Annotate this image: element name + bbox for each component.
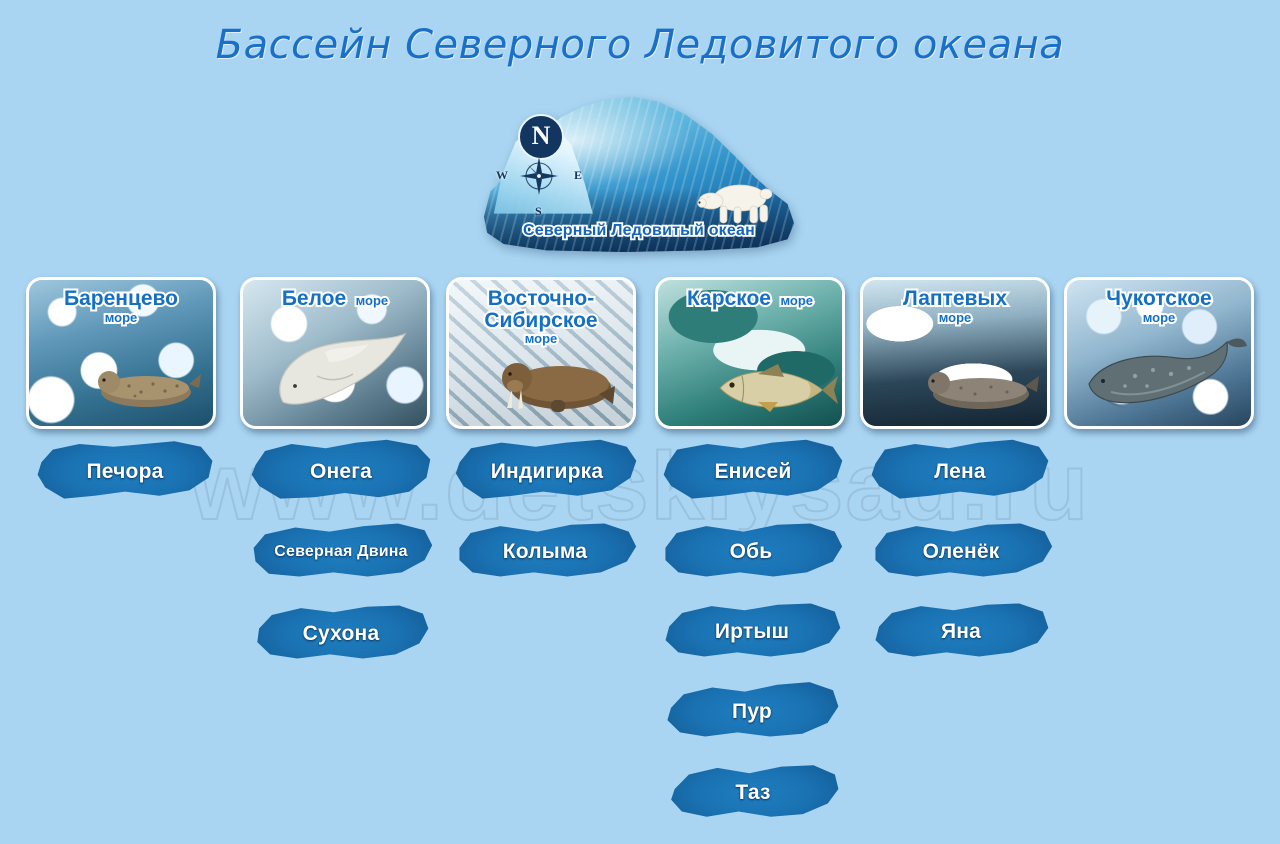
river-blob-taz[interactable]: Таз <box>664 760 842 826</box>
sea-name: Карское <box>687 287 771 310</box>
sea-suffix: море <box>939 311 972 324</box>
sea-suffix: море <box>356 294 389 307</box>
river-label: Оленёк <box>923 540 1000 564</box>
river-label: Печора <box>87 460 164 484</box>
sea-name: Лаптевых <box>869 288 1041 310</box>
sea-suffix: море <box>525 332 558 345</box>
river-label: Обь <box>730 540 773 564</box>
river-label: Иртыш <box>715 620 789 644</box>
whale-icon <box>1081 336 1247 418</box>
river-label: Индигирка <box>491 460 604 484</box>
sea-card-laptevyh[interactable]: Лаптевых море <box>860 277 1050 429</box>
sea-card-caption: Чукотское море <box>1073 288 1245 326</box>
seal-icon <box>921 364 1039 414</box>
sea-card-caption: Восточно-Сибирское море <box>455 288 627 348</box>
sea-card-caption: Карское море <box>664 288 836 310</box>
compass-rose: N W E S <box>496 114 582 222</box>
sea-name: Чукотское <box>1073 288 1245 310</box>
seal-icon <box>91 362 201 414</box>
sea-card-beloe[interactable]: Белое море <box>240 277 430 429</box>
ocean-caption: Северный Ледовитый океан <box>474 222 804 240</box>
compass-north-icon: N <box>518 114 564 160</box>
river-label: Онега <box>310 460 372 484</box>
sea-suffix: море <box>1143 311 1176 324</box>
sea-name: Баренцево <box>35 288 207 310</box>
river-blob-indigirka[interactable]: Индигирка <box>452 437 642 507</box>
walrus-icon <box>495 356 617 416</box>
compass-west-label: W <box>496 168 508 183</box>
river-blob-enisey[interactable]: Енисей <box>658 437 848 507</box>
sea-card-caption: Белое море <box>249 288 421 310</box>
river-blob-olenek[interactable]: Оленёк <box>868 518 1054 586</box>
fish-icon <box>714 360 838 414</box>
river-label: Пур <box>732 700 772 724</box>
river-blob-irtysh[interactable]: Иртыш <box>660 598 844 666</box>
sea-card-barentsevo[interactable]: Баренцево море <box>26 277 216 429</box>
sea-card-chukotskoe[interactable]: Чукотское море <box>1064 277 1254 429</box>
river-label: Лена <box>934 460 986 484</box>
compass-south-label: S <box>535 204 542 219</box>
sea-name: Восточно-Сибирское <box>455 288 627 331</box>
river-blob-pur[interactable]: Пур <box>662 678 842 746</box>
river-label: Таз <box>735 781 770 805</box>
sea-suffix: море <box>105 311 138 324</box>
sea-name: Белое <box>282 287 346 310</box>
arctic-ocean-card[interactable]: N W E S <box>474 92 804 252</box>
infographic-canvas: www.detskiysad.ru Бассейн Северного Ледо… <box>0 0 1280 844</box>
river-blob-suhona[interactable]: Сухона <box>250 600 432 668</box>
river-blob-pechora[interactable]: Печора <box>30 437 220 507</box>
beluga-icon <box>265 328 415 414</box>
river-blob-kolyma[interactable]: Колыма <box>452 518 638 586</box>
river-blob-severnaya-dvina[interactable]: Северная Двина <box>246 518 436 586</box>
river-label: Яна <box>941 620 981 644</box>
river-blob-ob[interactable]: Обь <box>658 518 844 586</box>
river-blob-lena[interactable]: Лена <box>866 437 1054 507</box>
polar-bear-icon <box>692 176 778 226</box>
compass-east-label: E <box>574 168 582 183</box>
river-label: Енисей <box>714 460 791 484</box>
sea-card-caption: Лаптевых море <box>869 288 1041 326</box>
river-blob-onega[interactable]: Онега <box>246 437 436 507</box>
sea-card-caption: Баренцево море <box>35 288 207 326</box>
river-label: Сухона <box>303 622 380 646</box>
sea-card-vostochno-sibirskoe[interactable]: Восточно-Сибирское море <box>446 277 636 429</box>
page-title: Бассейн Северного Ледовитого океана <box>0 22 1280 68</box>
sea-card-karskoe[interactable]: Карское море <box>655 277 845 429</box>
compass-star-icon <box>519 156 559 196</box>
river-label: Северная Двина <box>274 543 408 561</box>
sea-suffix: море <box>780 294 813 307</box>
river-blob-yana[interactable]: Яна <box>870 598 1052 666</box>
river-label: Колыма <box>503 540 588 564</box>
